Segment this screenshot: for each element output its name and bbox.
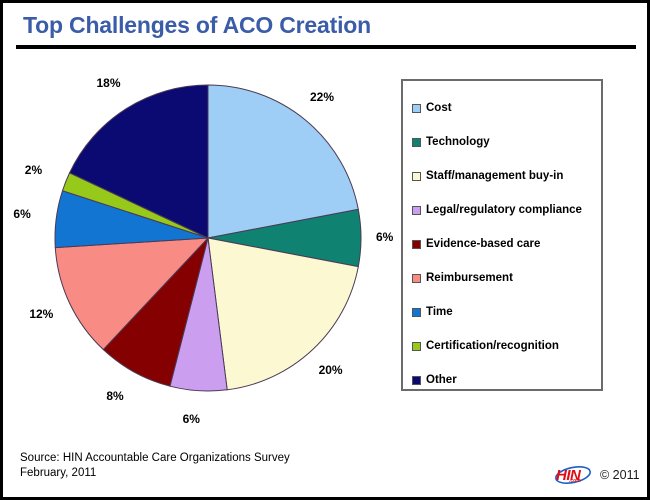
legend-item[interactable]: Cost (412, 91, 601, 125)
legend: CostTechnologyStaff/management buy-inLeg… (401, 79, 603, 391)
legend-item-label: Other (426, 374, 457, 386)
legend-swatch-icon (412, 240, 421, 249)
page-title: Top Challenges of ACO Creation (23, 12, 371, 39)
legend-item-label: Reimbursement (426, 272, 513, 284)
hin-logo-dotcom: .com (569, 478, 581, 484)
legend-swatch-icon (412, 206, 421, 215)
legend-swatch-icon (412, 104, 421, 113)
pie-slice-value-label: 12% (29, 307, 53, 321)
legend-swatch-icon (412, 376, 421, 385)
pie-slice-value-label: 6% (13, 207, 30, 221)
hin-logo: HIN .com (552, 464, 596, 486)
pie-chart: 22%6%20%6%8%12%6%2%18% (3, 58, 398, 418)
title-divider (16, 45, 636, 49)
pie-slice-value-label: 2% (25, 163, 42, 177)
legend-swatch-icon (412, 308, 421, 317)
pie-slice-value-label: 6% (183, 412, 200, 426)
legend-items: CostTechnologyStaff/management buy-inLeg… (403, 81, 601, 389)
title-area: Top Challenges of ACO Creation (3, 3, 647, 53)
copyright-text: © 2011 (600, 468, 640, 482)
legend-swatch-icon (412, 172, 421, 181)
pie-slice-value-label: 22% (310, 90, 334, 104)
legend-item-label: Staff/management buy-in (426, 170, 563, 182)
legend-swatch-icon (412, 274, 421, 283)
legend-item[interactable]: Certification/recognition (412, 329, 601, 363)
legend-item-label: Cost (426, 102, 452, 114)
legend-item-label: Time (426, 306, 453, 318)
legend-swatch-icon (412, 138, 421, 147)
pie-slice-group (55, 85, 361, 391)
source-line-2: February, 2011 (20, 466, 290, 481)
legend-item[interactable]: Legal/regulatory compliance (412, 193, 601, 227)
legend-item-label: Certification/recognition (426, 340, 559, 352)
legend-swatch-icon (412, 342, 421, 351)
chart-frame: Top Challenges of ACO Creation 22%6%20%6… (0, 0, 650, 500)
pie-slice-value-label: 8% (106, 389, 123, 403)
legend-item[interactable]: Other (412, 363, 601, 397)
legend-item-label: Legal/regulatory compliance (426, 204, 582, 216)
legend-item[interactable]: Evidence-based care (412, 227, 601, 261)
branding-block: HIN .com © 2011 (552, 464, 640, 486)
pie-slice-value-label: 20% (319, 363, 343, 377)
legend-item-label: Technology (426, 136, 490, 148)
source-note: Source: HIN Accountable Care Organizatio… (20, 451, 290, 481)
legend-item[interactable]: Time (412, 295, 601, 329)
legend-item-label: Evidence-based care (426, 238, 540, 250)
pie-slice-value-label: 18% (96, 76, 120, 90)
legend-item[interactable]: Technology (412, 125, 601, 159)
legend-item[interactable]: Reimbursement (412, 261, 601, 295)
legend-item[interactable]: Staff/management buy-in (412, 159, 601, 193)
pie-slice-value-label: 6% (376, 230, 393, 244)
source-line-1: Source: HIN Accountable Care Organizatio… (20, 451, 290, 466)
